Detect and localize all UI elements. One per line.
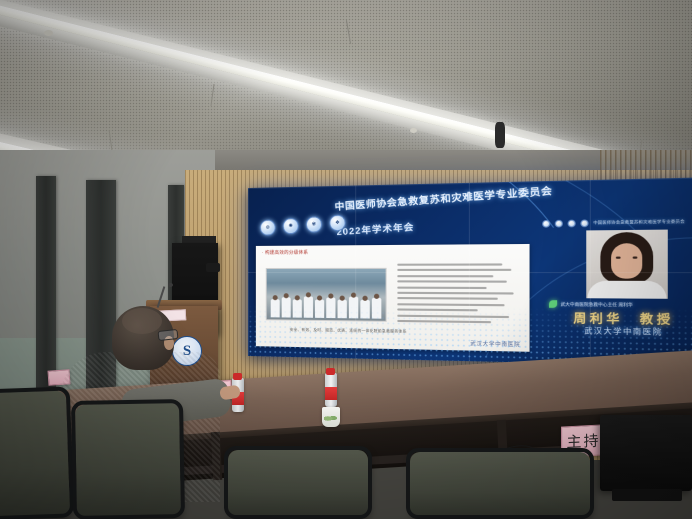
- ceiling-sensor-icon: [44, 30, 53, 36]
- wall-camera-icon: [206, 263, 220, 272]
- chair-frame: [406, 448, 594, 519]
- attendee-glasses: [158, 329, 179, 341]
- chair-frame: [71, 399, 185, 519]
- emblem-icon: ⊛: [259, 219, 276, 236]
- tea-cup: [322, 407, 340, 427]
- emblem-icon: ❖: [329, 214, 346, 231]
- emblem-icon: ✺: [282, 217, 299, 234]
- desktop-monitor: [600, 415, 692, 491]
- bottle-cap: [233, 373, 242, 380]
- led-video-wall[interactable]: 中国医师协会急救复苏和灾难医学专业委员会 2022年学术年会 ⊛ ✺ ✾ ❖ ·…: [248, 177, 692, 367]
- caption-emblem-icon: [555, 220, 563, 228]
- caption-emblem-icon: [542, 220, 550, 228]
- speaker-caption-bar: 中国医师协会急救复苏和灾难医学专业委员会: [542, 218, 685, 227]
- microphone-icon: [168, 283, 173, 287]
- speaker-shoulders: [587, 281, 666, 299]
- speaker-face: [611, 243, 642, 279]
- emblem-icon: ✾: [305, 216, 322, 233]
- caption-emblem-icon: [580, 219, 588, 227]
- bottle-cap: [326, 368, 335, 375]
- chair-frame: [224, 446, 372, 519]
- bottle-label: [325, 387, 337, 400]
- chair-frame: [0, 386, 74, 519]
- cup-decoration: [324, 414, 337, 423]
- keyboard[interactable]: [612, 489, 682, 501]
- attendee-hair: [122, 308, 162, 334]
- slide-heading: · 构建高效的分级体系: [262, 250, 308, 256]
- ceiling-sprinkler-icon: [410, 128, 417, 133]
- speaker-webcam-feed: [586, 230, 668, 299]
- caption-bar-text: 中国医师协会急救复苏和灾难医学专业委员会: [593, 219, 685, 226]
- caption-emblem-icon: [568, 220, 576, 228]
- hanging-speaker: [495, 122, 505, 148]
- conference-room-photo: 中国医师协会急救复苏和灾难医学专业委员会 2022年学术年会 ⊛ ✺ ✾ ❖ ·…: [0, 0, 692, 519]
